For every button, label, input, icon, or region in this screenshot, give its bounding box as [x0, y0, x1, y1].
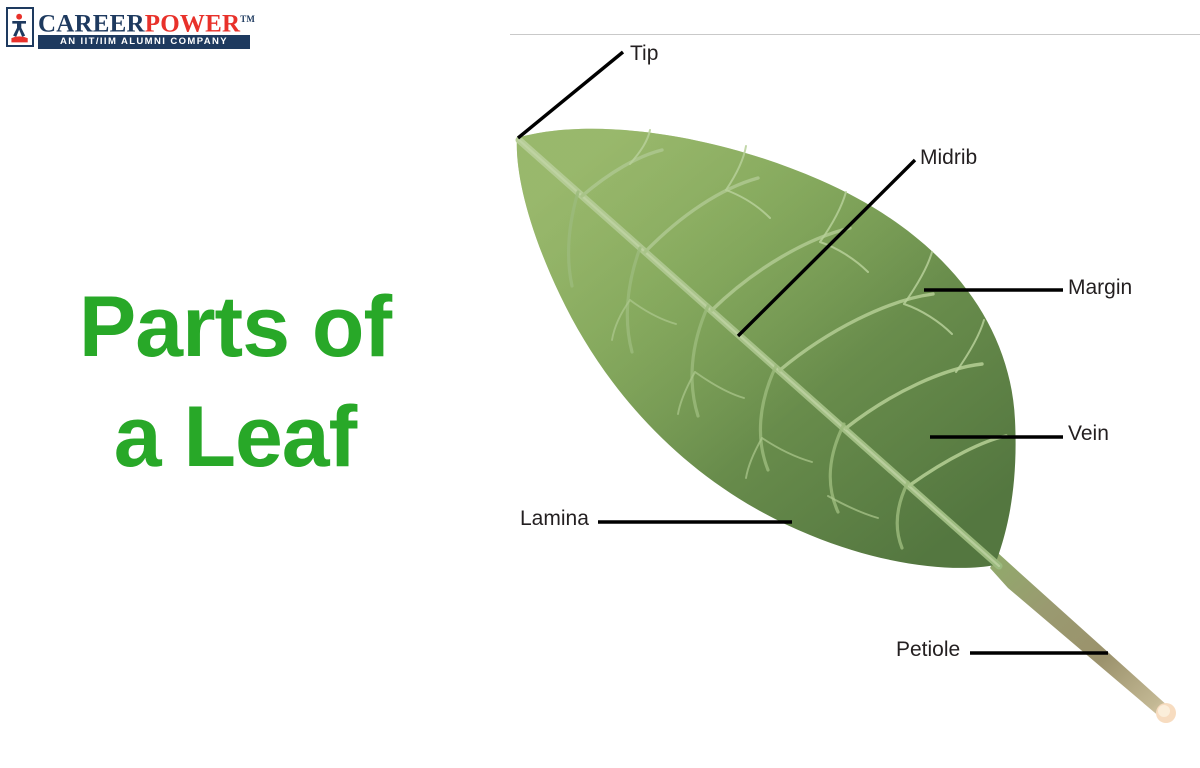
diagram-label-petiole: Petiole: [896, 639, 960, 660]
brand-name-power: POWER: [145, 10, 240, 37]
leader-line-tip: [518, 52, 623, 138]
diagram-label-vein: Vein: [1068, 423, 1109, 444]
page-title: Parts of a Leaf: [0, 272, 470, 492]
leaf-blade-shape: [517, 129, 1016, 568]
brand-wordmark: CAREERPOWERTM: [38, 6, 252, 33]
page-title-line-2: a Leaf: [0, 382, 470, 492]
brand-logo: CAREERPOWERTM AN IIT/IIM ALUMNI COMPANY: [6, 6, 252, 50]
diagram-label-tip: Tip: [630, 43, 658, 64]
leaf-diagram: Tip Midrib Margin Vein Lamina Petiole: [490, 0, 1200, 768]
diagram-label-midrib: Midrib: [920, 147, 977, 168]
career-power-figure-icon: [6, 7, 34, 47]
trademark-symbol: TM: [240, 14, 255, 24]
leaf-illustration: [490, 0, 1200, 768]
diagram-label-margin: Margin: [1068, 277, 1132, 298]
brand-name-career: CAREER: [38, 10, 145, 37]
page-title-line-1: Parts of: [0, 272, 470, 382]
leaf-petiole-shape: [990, 553, 1176, 723]
brand-tagline: AN IIT/IIM ALUMNI COMPANY: [38, 35, 250, 49]
diagram-label-lamina: Lamina: [520, 508, 589, 529]
